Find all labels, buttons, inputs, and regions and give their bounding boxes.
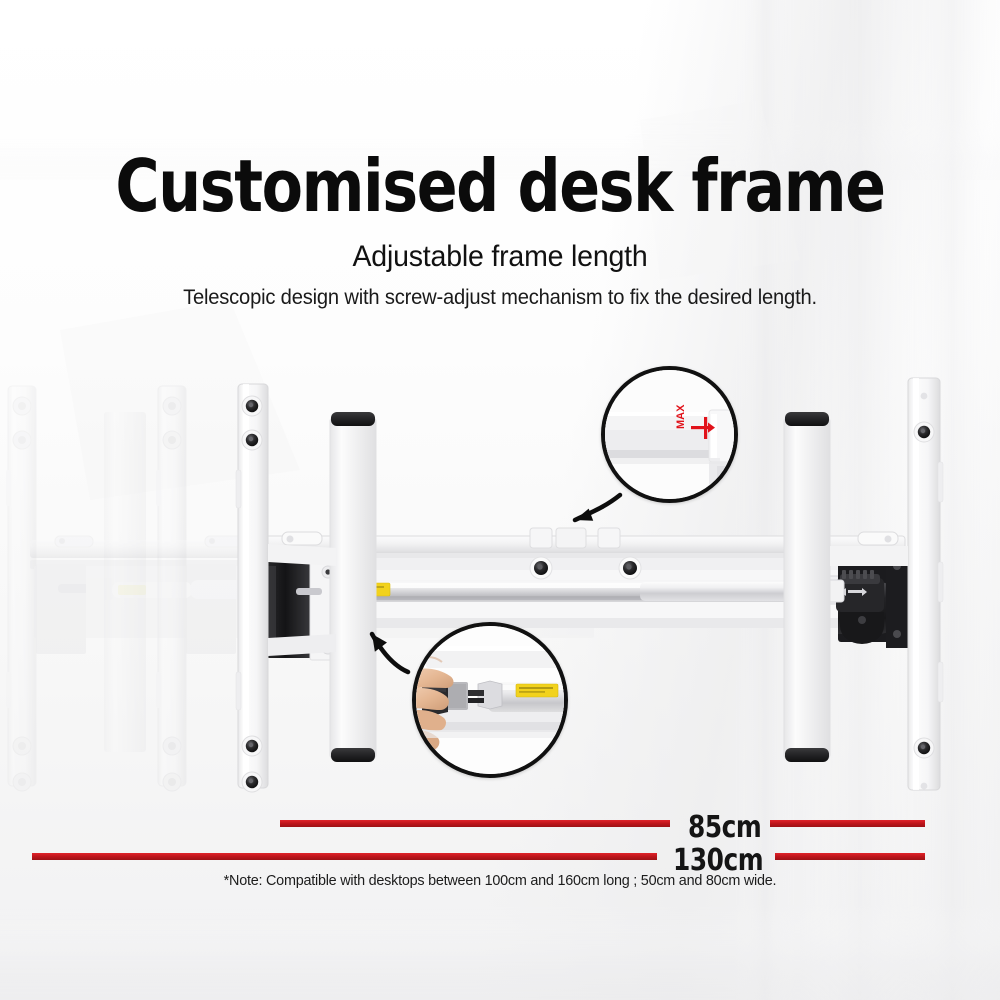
page-subtitle: Adjustable frame length xyxy=(25,240,975,274)
page-description: Telescopic design with screw-adjust mech… xyxy=(20,286,980,310)
header-block: Customised desk frame Adjustable frame l… xyxy=(0,150,1000,310)
dim-line-85-left xyxy=(280,820,670,827)
page-title: Customised desk frame xyxy=(35,150,965,222)
dim-line-130-right xyxy=(775,853,925,860)
dim-line-130-left xyxy=(32,853,657,860)
compatibility-note: *Note: Compatible with desktops between … xyxy=(20,872,980,889)
dim-line-85-right xyxy=(770,820,925,827)
